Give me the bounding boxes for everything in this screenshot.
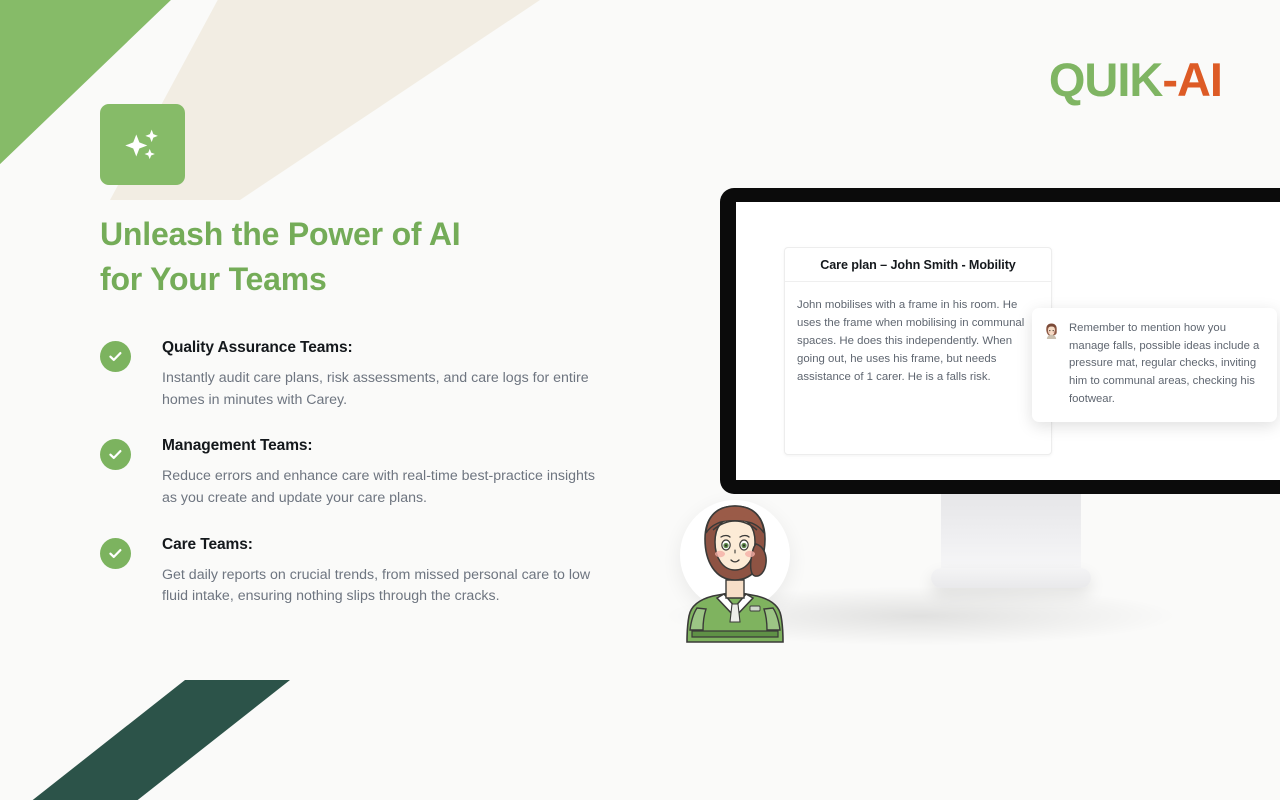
check-circle-icon bbox=[100, 341, 131, 372]
monitor-mockup: Care plan – John Smith - Mobility John m… bbox=[720, 188, 1280, 494]
feature-text-block: Quality Assurance Teams: Instantly audit… bbox=[162, 339, 612, 411]
feature-description: Instantly audit care plans, risk assessm… bbox=[162, 368, 612, 411]
feature-description: Get daily reports on crucial trends, fro… bbox=[162, 565, 612, 608]
logo-text-primary: QUIK bbox=[1049, 53, 1163, 106]
sparkles-icon bbox=[120, 122, 166, 168]
ai-sparkle-badge bbox=[100, 104, 185, 185]
logo-text-secondary: -AI bbox=[1162, 53, 1222, 106]
care-plan-title: Care plan – John Smith - Mobility bbox=[820, 258, 1015, 272]
monitor-stand-base bbox=[931, 568, 1091, 588]
monitor-screen: Care plan – John Smith - Mobility John m… bbox=[736, 202, 1280, 480]
feature-description: Reduce errors and enhance care with real… bbox=[162, 466, 612, 509]
headline-line-1: Unleash the Power of AI bbox=[100, 216, 461, 252]
feature-list: Quality Assurance Teams: Instantly audit… bbox=[100, 339, 660, 608]
ai-suggestion-text: Remember to mention how you manage falls… bbox=[1069, 320, 1265, 409]
monitor-stand-neck bbox=[941, 494, 1081, 572]
care-plan-card: Care plan – John Smith - Mobility John m… bbox=[784, 247, 1052, 455]
brand-logo: QUIK-AI bbox=[1049, 56, 1222, 103]
list-item: Quality Assurance Teams: Instantly audit… bbox=[100, 339, 660, 411]
carer-avatar-icon bbox=[1043, 322, 1060, 339]
care-plan-card-header: Care plan – John Smith - Mobility bbox=[785, 248, 1051, 282]
page-title: Unleash the Power of AI for Your Teams bbox=[100, 212, 660, 303]
dark-green-diagonal-band bbox=[0, 680, 400, 800]
feature-title: Care Teams: bbox=[162, 536, 612, 554]
check-circle-icon bbox=[100, 439, 131, 470]
feature-title: Management Teams: bbox=[162, 437, 612, 455]
ai-suggestion-popup: Remember to mention how you manage falls… bbox=[1032, 308, 1277, 422]
check-circle-icon bbox=[100, 538, 131, 569]
list-item: Management Teams: Reduce errors and enha… bbox=[100, 437, 660, 509]
list-item: Care Teams: Get daily reports on crucial… bbox=[100, 536, 660, 608]
feature-title: Quality Assurance Teams: bbox=[162, 339, 612, 357]
headline-line-2: for Your Teams bbox=[100, 261, 327, 297]
carer-illustration bbox=[680, 500, 790, 648]
care-plan-body-text: John mobilises with a frame in his room.… bbox=[785, 282, 1051, 386]
monitor-bezel: Care plan – John Smith - Mobility John m… bbox=[720, 188, 1280, 494]
left-content-column: Unleash the Power of AI for Your Teams Q… bbox=[100, 212, 660, 608]
feature-text-block: Care Teams: Get daily reports on crucial… bbox=[162, 536, 612, 608]
feature-text-block: Management Teams: Reduce errors and enha… bbox=[162, 437, 612, 509]
